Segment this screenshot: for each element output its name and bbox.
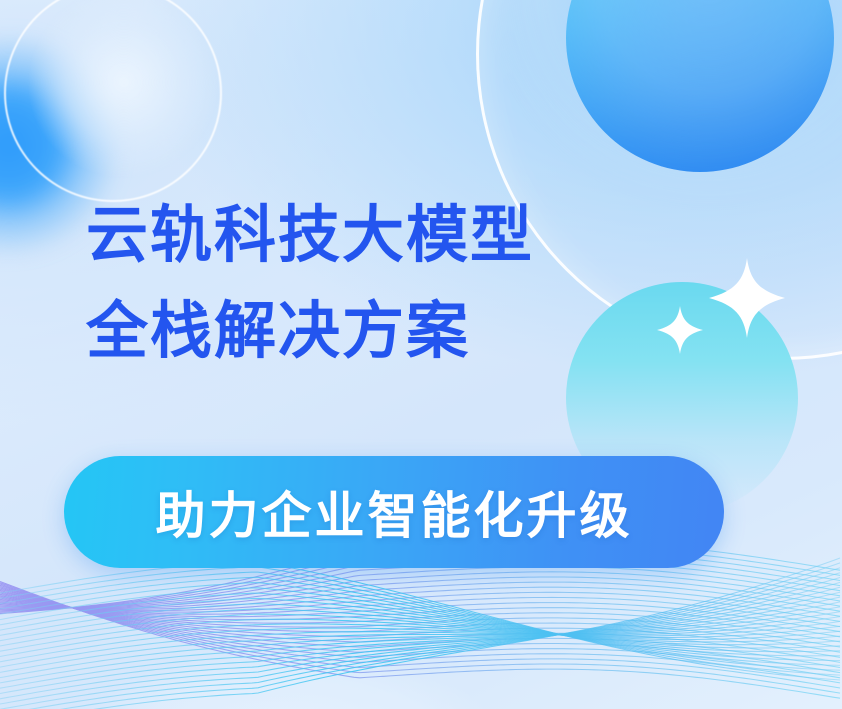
poster-canvas: 云轨科技大模型 全栈解决方案 助力企业智能化升级 [0,0,842,709]
cta-button-label: 助力企业智能化升级 [156,476,633,548]
poster-content: 云轨科技大模型 全栈解决方案 助力企业智能化升级 [0,0,842,709]
page-title: 云轨科技大模型 全栈解决方案 [86,188,534,380]
title-line-1: 云轨科技大模型 [86,201,534,270]
title-line-2: 全栈解决方案 [86,284,534,380]
cta-button[interactable]: 助力企业智能化升级 [64,456,724,568]
